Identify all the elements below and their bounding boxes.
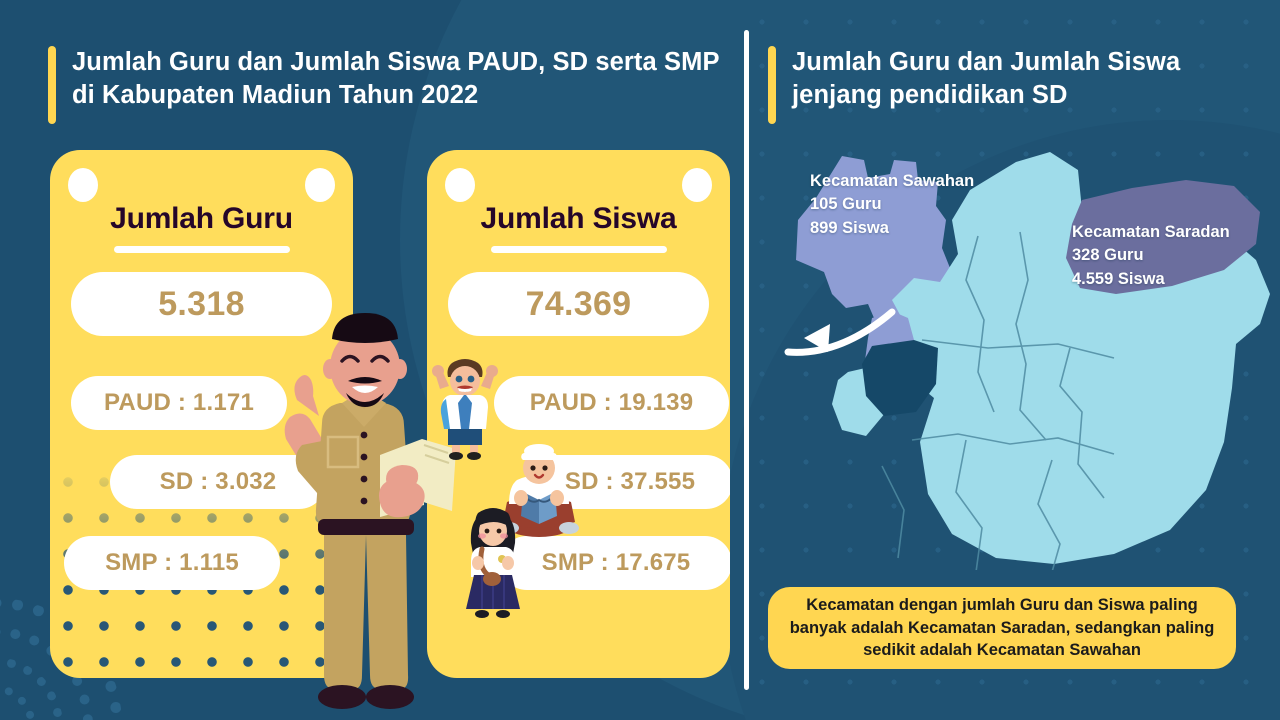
punch-hole-right-icon [305,168,335,202]
punch-hole-left-icon [445,168,475,202]
card-title: Jumlah Guru [50,202,353,236]
punch-hole-right-icon [682,168,712,202]
siswa-total-value: 74.369 [448,272,709,336]
card-title: Jumlah Siswa [427,202,730,236]
map-label-sawahan-name: Kecamatan Sawahan [810,170,974,193]
right-title-text: Jumlah Guru dan Jumlah Siswa jenjang pen… [792,46,1238,111]
map-label-sawahan: Kecamatan Sawahan 105 Guru 899 Siswa [810,170,974,240]
siswa-smp-value: SMP : 17.675 [500,536,730,590]
student-smp-illustration-icon [458,505,528,620]
title-accent-bar [768,46,776,124]
title-accent-bar [48,46,56,124]
panel-divider [744,30,749,690]
punch-hole-left-icon [68,168,98,202]
map-label-saradan-siswa: 4.559 Siswa [1072,268,1230,291]
student-paud-illustration-icon [430,355,500,460]
map-label-saradan: Kecamatan Saradan 328 Guru 4.559 Siswa [1072,221,1230,291]
card-title-underline [114,246,290,253]
map-label-saradan-guru: 328 Guru [1072,244,1230,267]
left-panel-title: Jumlah Guru dan Jumlah Siswa PAUD, SD se… [48,46,728,124]
map-label-saradan-name: Kecamatan Saradan [1072,221,1230,244]
card-title-underline [491,246,667,253]
map-label-sawahan-guru: 105 Guru [810,193,974,216]
right-panel-title: Jumlah Guru dan Jumlah Siswa jenjang pen… [768,46,1238,124]
map-label-sawahan-siswa: 899 Siswa [810,217,974,240]
guru-smp-value: SMP : 1.115 [64,536,280,590]
siswa-paud-value: PAUD : 19.139 [494,376,729,430]
infographic-stage: Jumlah Guru dan Jumlah Siswa PAUD, SD se… [0,0,1280,720]
map-caption: Kecamatan dengan jumlah Guru dan Siswa p… [768,587,1236,669]
left-title-text: Jumlah Guru dan Jumlah Siswa PAUD, SD se… [72,46,728,111]
guru-paud-value: PAUD : 1.171 [71,376,287,430]
